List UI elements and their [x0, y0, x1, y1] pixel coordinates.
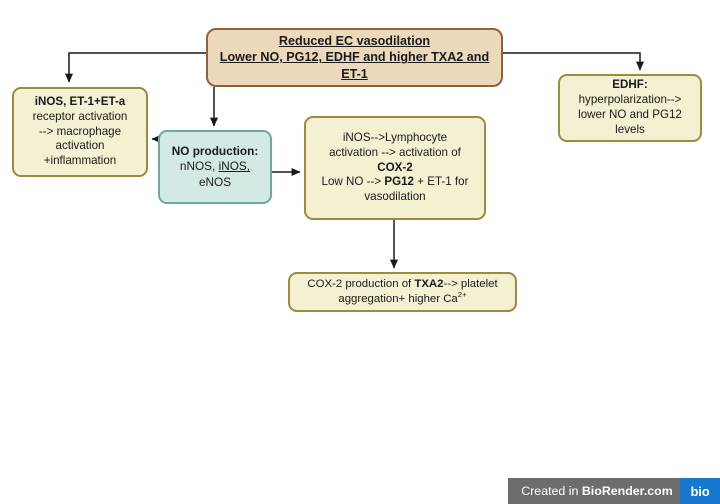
watermark-brand: BioRender.com — [582, 484, 673, 498]
biorender-logo-badge: bio — [680, 478, 720, 504]
node-txa2-platelet-aggregation[interactable]: COX-2 production of TXA2--> platelet agg… — [288, 272, 517, 312]
cox-line-1: iNOS-->Lymphocyte — [343, 131, 447, 144]
txa-line-1-bold: TXA2 — [414, 278, 443, 290]
node-txa2-platelet-aggregation-text: COX-2 production of TXA2--> platelet agg… — [290, 277, 515, 306]
cox-line-4-pre: Low NO --> — [322, 175, 385, 188]
node-edhf[interactable]: EDHF: hyperpolarization--> lower NO and … — [558, 74, 702, 142]
diagram-canvas: Reduced EC vasodilation Lower NO, PG12, … — [0, 0, 720, 504]
edhf-line-3: lower NO and PG12 — [578, 108, 682, 121]
txa-line-1-pre: COX-2 production of — [307, 278, 414, 290]
inos-line-5: +inflammation — [44, 154, 117, 167]
cox-line-4-post: + ET-1 for — [414, 175, 468, 188]
watermark-label: Created in BioRender.com — [508, 484, 680, 498]
edhf-line-2: hyperpolarization--> — [579, 93, 682, 106]
inos-line-2: receptor activation — [33, 110, 128, 123]
watermark-prefix: Created in — [521, 484, 582, 498]
biorender-watermark: Created in BioRender.com bio — [508, 478, 720, 504]
node-edhf-text: EDHF: hyperpolarization--> lower NO and … — [560, 78, 700, 137]
top-line-3: ET-1 — [341, 67, 368, 81]
cox-line-2: activation --> activation of — [329, 146, 461, 159]
cox-line-4-bold: PG12 — [384, 175, 414, 188]
inos-line-3: --> macrophage — [39, 125, 121, 138]
cox-line-5: vasodilation — [364, 190, 425, 203]
edhf-line-4: levels — [615, 123, 645, 136]
no-production-heading: NO production: — [172, 144, 259, 158]
inos-heading: iNOS, ET-1+ET-a — [35, 95, 126, 108]
no-production-detail-post: eNOS — [199, 175, 231, 189]
node-cox-2-activation[interactable]: iNOS-->Lymphocyte activation --> activat… — [304, 116, 486, 220]
top-line-1: Reduced EC vasodilation — [279, 34, 430, 48]
node-inos-et1-eta[interactable]: iNOS, ET-1+ET-a receptor activation --> … — [12, 87, 148, 177]
cox-line-3: COX-2 — [377, 161, 412, 174]
node-no-production-text: NO production: nNOS, iNOS, eNOS — [160, 144, 270, 189]
txa-line-2-pre: aggregation+ higher Ca — [338, 293, 457, 305]
node-inos-et1-eta-text: iNOS, ET-1+ET-a receptor activation --> … — [14, 95, 146, 169]
edge-top-to-edhf — [503, 53, 640, 70]
no-production-detail-underlined: iNOS, — [219, 159, 250, 173]
node-cox-2-activation-text: iNOS-->Lymphocyte activation --> activat… — [306, 131, 484, 205]
node-no-production[interactable]: NO production: nNOS, iNOS, eNOS — [158, 130, 272, 204]
edge-top-to-inos — [69, 53, 206, 82]
no-production-detail-pre: nNOS, — [180, 159, 219, 173]
inos-line-4: activation — [56, 139, 105, 152]
node-reduced-ec-vasodilation-text: Reduced EC vasodilation Lower NO, PG12, … — [208, 33, 501, 81]
edhf-heading: EDHF: — [612, 78, 647, 91]
txa-line-1-post: --> platelet — [443, 278, 497, 290]
node-reduced-ec-vasodilation[interactable]: Reduced EC vasodilation Lower NO, PG12, … — [206, 28, 503, 87]
txa-line-2-superscript: 2+ — [458, 290, 467, 299]
top-line-2: Lower NO, PG12, EDHF and higher TXA2 and — [220, 50, 489, 64]
